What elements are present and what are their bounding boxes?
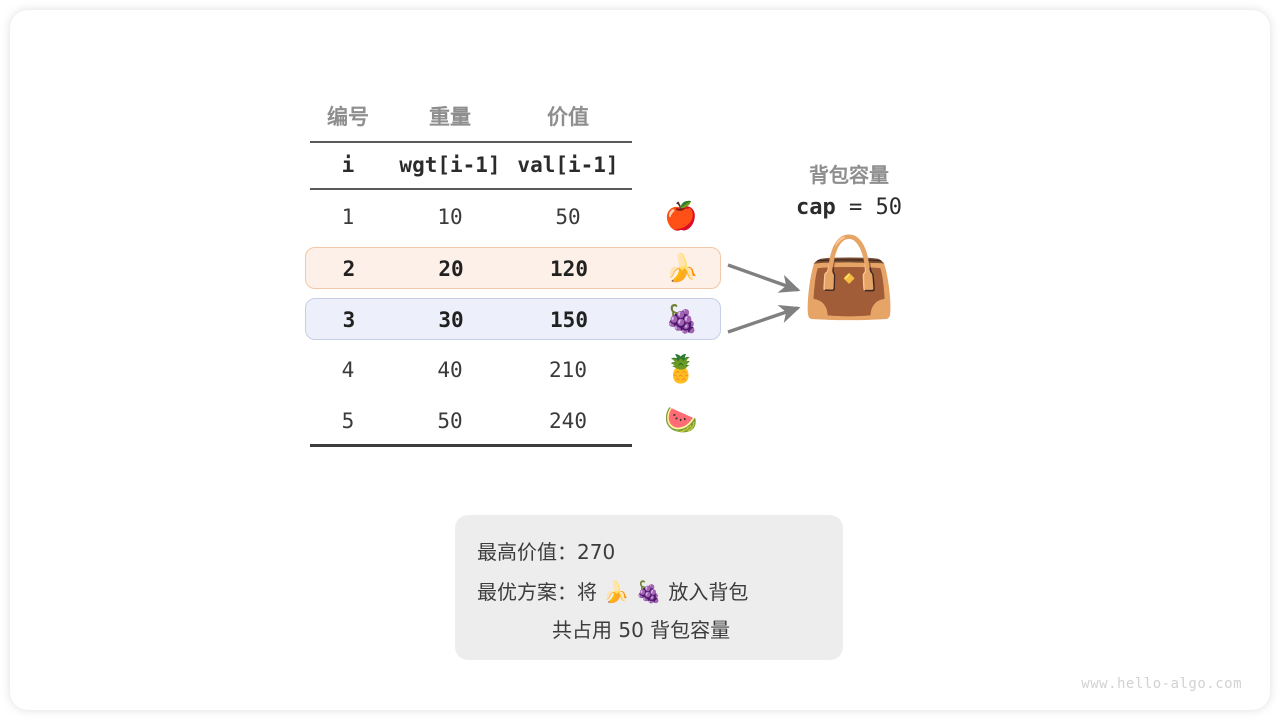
cell-index: 5 [306,400,390,442]
diagram-card: 编号 重量 价值 i wgt[i-1] val[i-1] 11050🍎22012… [10,10,1270,710]
table-rule-bottom [310,444,632,447]
cell-value: 210 [510,349,626,391]
knapsack-capacity-expression: cap = 50 [749,190,949,226]
header-weight: 重量 [400,96,500,138]
plan-grapes-emoji: 🍇 [636,580,662,604]
cell-weight: 20 [393,248,509,290]
banana-emoji: 🍌 [654,248,710,290]
plan-banana-emoji: 🍌 [603,580,629,604]
best-plan-prefix: 最优方案：将 [477,580,597,604]
subheader-i: i [306,144,390,186]
cap-equals: = [849,195,862,220]
cap-value: 50 [876,195,903,220]
handbag-icon: 👜 [749,232,949,324]
cell-value: 50 [510,196,626,238]
cell-weight: 40 [392,349,508,391]
table-row: 220120🍌 [305,247,721,289]
used-capacity-text: 共占用 50 背包容量 [552,615,730,645]
cell-index: 1 [306,196,390,238]
subheader-wgt: wgt[i-1] [392,144,508,186]
max-value-text: 最高价值：270 [477,537,615,567]
cell-index: 4 [306,349,390,391]
cell-value: 240 [510,400,626,442]
cell-value: 150 [511,299,627,341]
header-value: 价值 [518,96,618,138]
table-header-row: 编号 重量 价值 [306,96,632,138]
knapsack-block: 背包容量 cap = 50 👜 [749,160,949,350]
apple-emoji: 🍎 [653,196,709,238]
table-subheader-row: i wgt[i-1] val[i-1] [306,144,632,186]
table-row: 440210🍍 [305,349,721,391]
best-plan-suffix: 放入背包 [668,580,748,604]
header-index: 编号 [306,96,390,138]
cap-key: cap [796,195,836,220]
knapsack-capacity-label: 背包容量 [749,160,949,190]
table-row: 11050🍎 [305,196,721,238]
cell-index: 3 [307,299,391,341]
best-plan-text: 最优方案：将 🍌 🍇 放入背包 [477,577,748,607]
cell-weight: 50 [392,400,508,442]
pineapple-emoji: 🍍 [653,349,709,391]
cell-value: 120 [511,248,627,290]
result-box: 最高价值：270 最优方案：将 🍌 🍇 放入背包 共占用 50 背包容量 [455,515,843,660]
items-table: 编号 重量 价值 i wgt[i-1] val[i-1] 11050🍎22012… [306,96,726,461]
table-row: 330150🍇 [305,298,721,340]
watermelon-emoji: 🍉 [653,400,709,442]
grapes-emoji: 🍇 [654,299,710,341]
subheader-val: val[i-1] [510,144,626,186]
table-rule-top [310,141,632,143]
cell-weight: 10 [392,196,508,238]
cell-weight: 30 [393,299,509,341]
cell-index: 2 [307,248,391,290]
table-rule-mid [310,188,632,190]
site-watermark: www.hello-algo.com [1081,676,1242,692]
table-row: 550240🍉 [305,400,721,442]
